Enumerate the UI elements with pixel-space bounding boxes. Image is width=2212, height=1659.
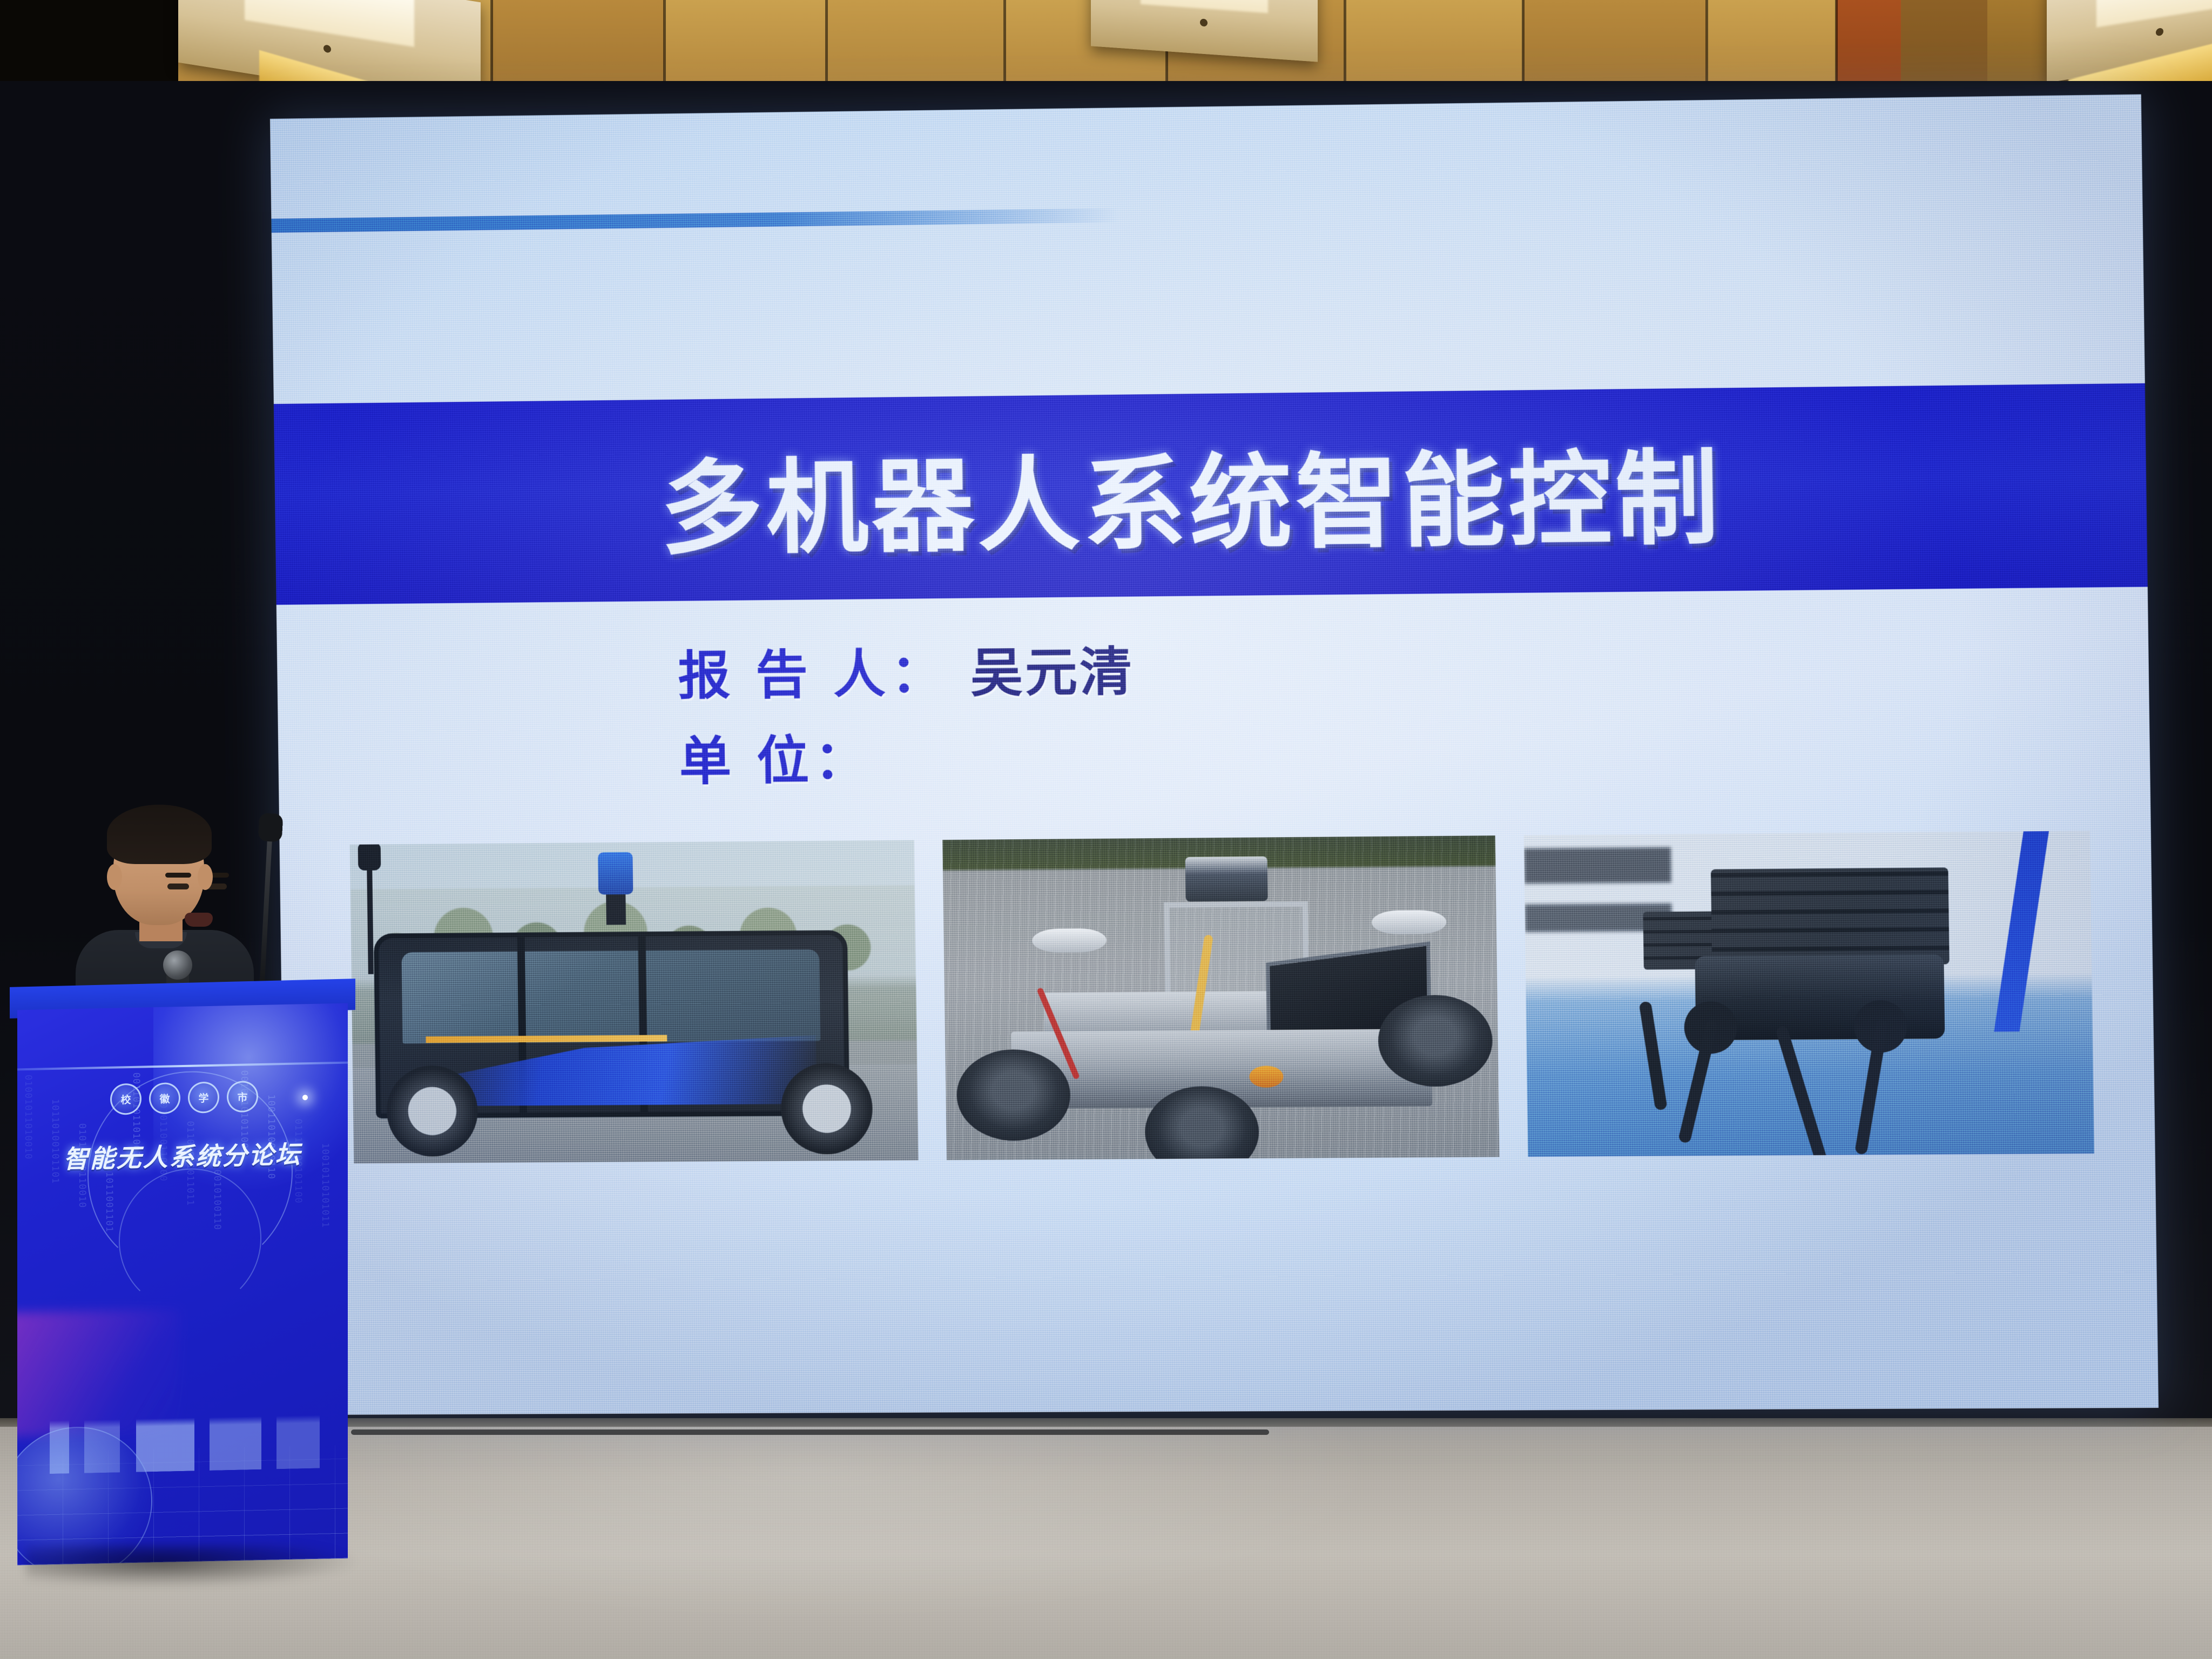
slide-surface: 多机器人系统智能控制 报 告 人：吴元清 单 位： (270, 95, 2159, 1415)
presenter-row: 报 告 人：吴元清 (678, 629, 1135, 709)
photo-wheeled-ugv (942, 835, 1499, 1160)
lectern-podium: 0100101101001010110100101101010110101100… (10, 983, 355, 1593)
forum-title: 智能无人系统分论坛 (17, 1134, 348, 1177)
affiliation-value (893, 731, 894, 788)
wheel-icon (956, 1049, 1071, 1141)
lidar-icon (598, 852, 633, 895)
affiliation-label: 单 位： (679, 731, 873, 790)
slide-subtitle-zone: 报 告 人：吴元清 单 位： (276, 587, 2151, 832)
gps-antenna-icon (1032, 928, 1107, 953)
emblem-icon: 徽 (149, 1082, 180, 1114)
led-presentation-screen: 多机器人系统智能控制 报 告 人：吴元清 单 位： (270, 95, 2159, 1415)
emblem-icon: 市 (227, 1081, 258, 1112)
conference-stage-scene: 多机器人系统智能控制 报 告 人：吴元清 单 位： (0, 0, 2212, 1659)
wheel-icon (780, 1063, 873, 1155)
photo-autonomous-shuttle (350, 840, 919, 1164)
presenter-label: 报 告 人： (678, 644, 949, 705)
slide-accent-line (271, 208, 1118, 233)
slide-title: 多机器人系统智能控制 (659, 415, 1723, 574)
slide-photo-strip (350, 831, 2094, 1163)
gps-antenna-icon (1372, 910, 1447, 934)
slide-title-band: 多机器人系统智能控制 (274, 383, 2148, 605)
payload-stack (1710, 867, 1950, 966)
affiliation-row: 单 位： (679, 717, 894, 794)
floor-cable (351, 1429, 1269, 1435)
podium-front-panel: 0100101101001010110100101101010110101100… (17, 1003, 348, 1566)
organizer-emblems: 校 徽 学 市 (110, 1081, 261, 1118)
emblem-icon: 学 (188, 1082, 219, 1114)
wheel-icon (1378, 995, 1493, 1087)
lidar-icon (1185, 857, 1268, 902)
photo-quadruped-robot (1524, 831, 2094, 1157)
emblem-icon: 校 (110, 1083, 141, 1115)
presenter-name: 吴元清 (970, 643, 1135, 702)
